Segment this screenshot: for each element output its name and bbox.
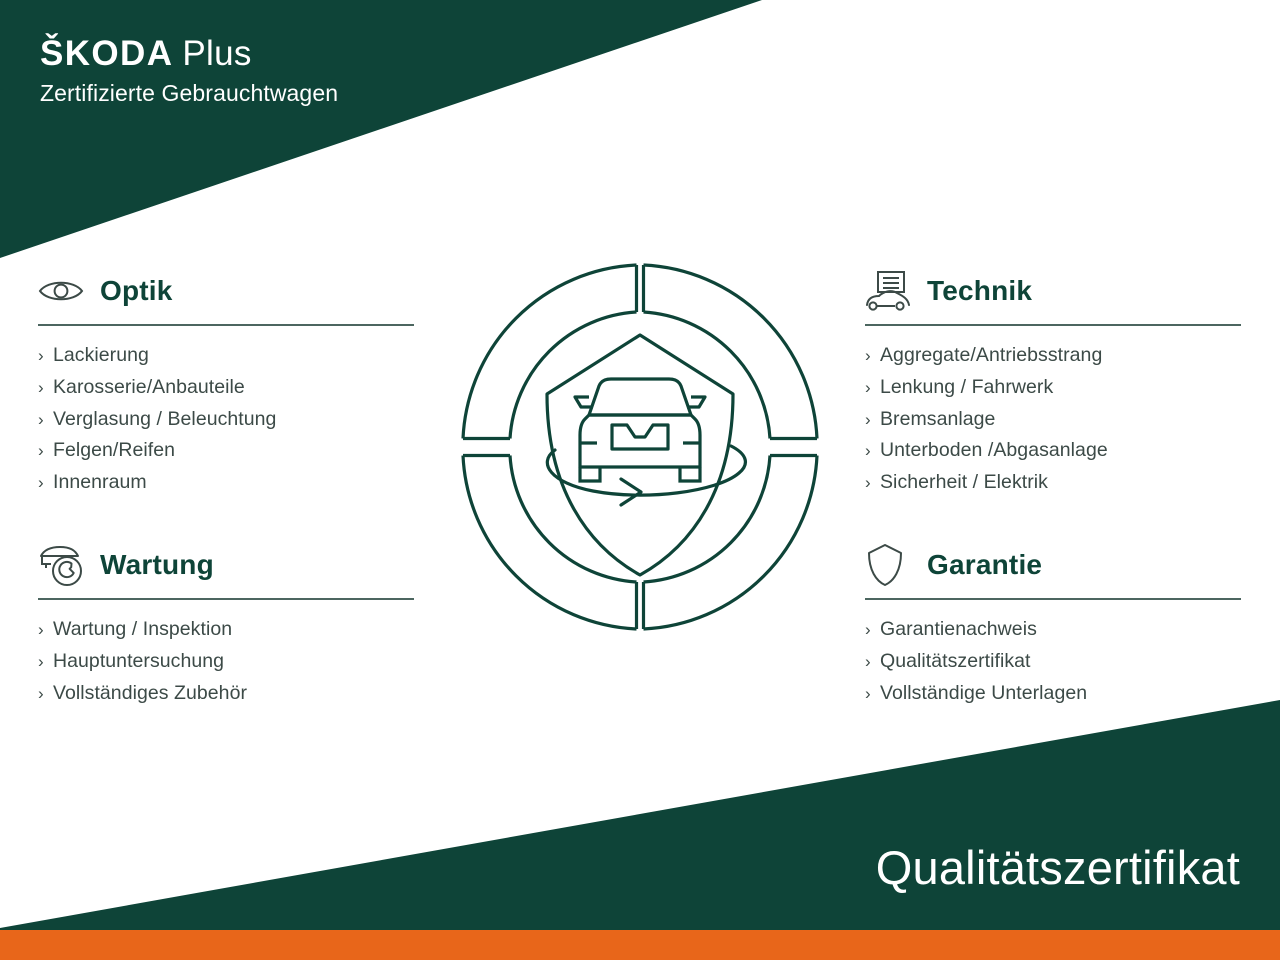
section-header: Technik <box>865 264 1241 318</box>
section-title: Wartung <box>100 549 214 581</box>
list-item-label: Innenraum <box>53 467 147 498</box>
list-item: ›Verglasung / Beleuchtung <box>38 404 414 436</box>
list-item: ›Hauptuntersuchung <box>38 646 414 678</box>
list-item-label: Bremsanlage <box>880 404 995 435</box>
chevron-right-icon: › <box>38 341 53 372</box>
chevron-right-icon: › <box>865 341 880 372</box>
chevron-right-icon: › <box>38 679 53 710</box>
list-item-label: Verglasung / Beleuchtung <box>53 404 276 435</box>
list-item-label: Hauptuntersuchung <box>53 646 224 677</box>
eye-icon <box>38 269 86 313</box>
chevron-right-icon: › <box>38 615 53 646</box>
list-item-label: Lackierung <box>53 340 149 371</box>
list-item-label: Vollständiges Zubehör <box>53 678 247 709</box>
chevron-right-icon: › <box>38 405 53 436</box>
chevron-right-icon: › <box>38 647 53 678</box>
list-item: ›Felgen/Reifen <box>38 435 414 467</box>
section-technik: Technik ›Aggregate/Antriebsstrang ›Lenku… <box>865 264 1241 499</box>
list-item-label: Lenkung / Fahrwerk <box>880 372 1053 403</box>
section-list: ›Wartung / Inspektion ›Hauptuntersuchung… <box>38 614 414 709</box>
list-item: ›Karosserie/Anbauteile <box>38 372 414 404</box>
chevron-right-icon: › <box>38 468 53 499</box>
section-title: Garantie <box>927 549 1042 581</box>
section-garantie: Garantie ›Garantienachweis ›Qualitätszer… <box>865 538 1241 709</box>
list-item-label: Sicherheit / Elektrik <box>880 467 1048 498</box>
list-item: ›Qualitätszertifikat <box>865 646 1241 678</box>
list-item-label: Garantienachweis <box>880 614 1037 645</box>
chevron-right-icon: › <box>38 436 53 467</box>
list-item: ›Wartung / Inspektion <box>38 614 414 646</box>
section-title: Technik <box>927 275 1032 307</box>
section-optik: Optik ›Lackierung ›Karosserie/Anbauteile… <box>38 264 414 499</box>
certified-vehicle-emblem <box>455 257 825 637</box>
list-item-label: Aggregate/Antriebsstrang <box>880 340 1102 371</box>
list-item: ›Lenkung / Fahrwerk <box>865 372 1241 404</box>
list-item: ›Garantienachweis <box>865 614 1241 646</box>
section-list: ›Lackierung ›Karosserie/Anbauteile ›Verg… <box>38 340 414 499</box>
list-item: ›Unterboden /Abgasanlage <box>865 435 1241 467</box>
chevron-right-icon: › <box>865 468 880 499</box>
list-item-label: Unterboden /Abgasanlage <box>880 435 1108 466</box>
section-divider <box>865 598 1241 600</box>
list-item-label: Karosserie/Anbauteile <box>53 372 245 403</box>
list-item-label: Vollständige Unterlagen <box>880 678 1087 709</box>
section-divider <box>38 324 414 326</box>
list-item-label: Wartung / Inspektion <box>53 614 232 645</box>
brand-wordmark: ŠKODA <box>40 34 173 73</box>
chevron-right-icon: › <box>865 436 880 467</box>
shield-icon <box>865 543 913 587</box>
certificate-page: ŠKODAPlus Zertifizierte Gebrauchtwagen O… <box>0 0 1280 960</box>
section-list: ›Aggregate/Antriebsstrang ›Lenkung / Fah… <box>865 340 1241 499</box>
brand-title-row: ŠKODAPlus <box>40 34 338 74</box>
section-divider <box>865 324 1241 326</box>
list-item-label: Felgen/Reifen <box>53 435 175 466</box>
list-item: ›Sicherheit / Elektrik <box>865 467 1241 499</box>
chevron-right-icon: › <box>865 373 880 404</box>
list-item: ›Lackierung <box>38 340 414 372</box>
section-header: Wartung <box>38 538 414 592</box>
list-item: ›Vollständige Unterlagen <box>865 678 1241 710</box>
chevron-right-icon: › <box>38 373 53 404</box>
chevron-right-icon: › <box>865 405 880 436</box>
section-wartung: Wartung ›Wartung / Inspektion ›Hauptunte… <box>38 538 414 709</box>
list-item: ›Vollständiges Zubehör <box>38 678 414 710</box>
orange-bar <box>0 930 1280 960</box>
document-car-icon <box>865 269 913 313</box>
chevron-right-icon: › <box>865 647 880 678</box>
list-item: ›Aggregate/Antriebsstrang <box>865 340 1241 372</box>
chevron-right-icon: › <box>865 679 880 710</box>
section-divider <box>38 598 414 600</box>
list-item: ›Innenraum <box>38 467 414 499</box>
car-wrench-icon <box>38 543 86 587</box>
list-item: ›Bremsanlage <box>865 404 1241 436</box>
section-header: Garantie <box>865 538 1241 592</box>
section-header: Optik <box>38 264 414 318</box>
brand-suffix: Plus <box>182 34 251 73</box>
chevron-right-icon: › <box>865 615 880 646</box>
section-title: Optik <box>100 275 173 307</box>
footer-title: Qualitätszertifikat <box>876 838 1240 898</box>
list-item-label: Qualitätszertifikat <box>880 646 1031 677</box>
brand-tagline: Zertifizierte Gebrauchtwagen <box>40 78 338 108</box>
section-list: ›Garantienachweis ›Qualitätszertifikat ›… <box>865 614 1241 709</box>
brand-lockup: ŠKODAPlus Zertifizierte Gebrauchtwagen <box>40 34 338 108</box>
